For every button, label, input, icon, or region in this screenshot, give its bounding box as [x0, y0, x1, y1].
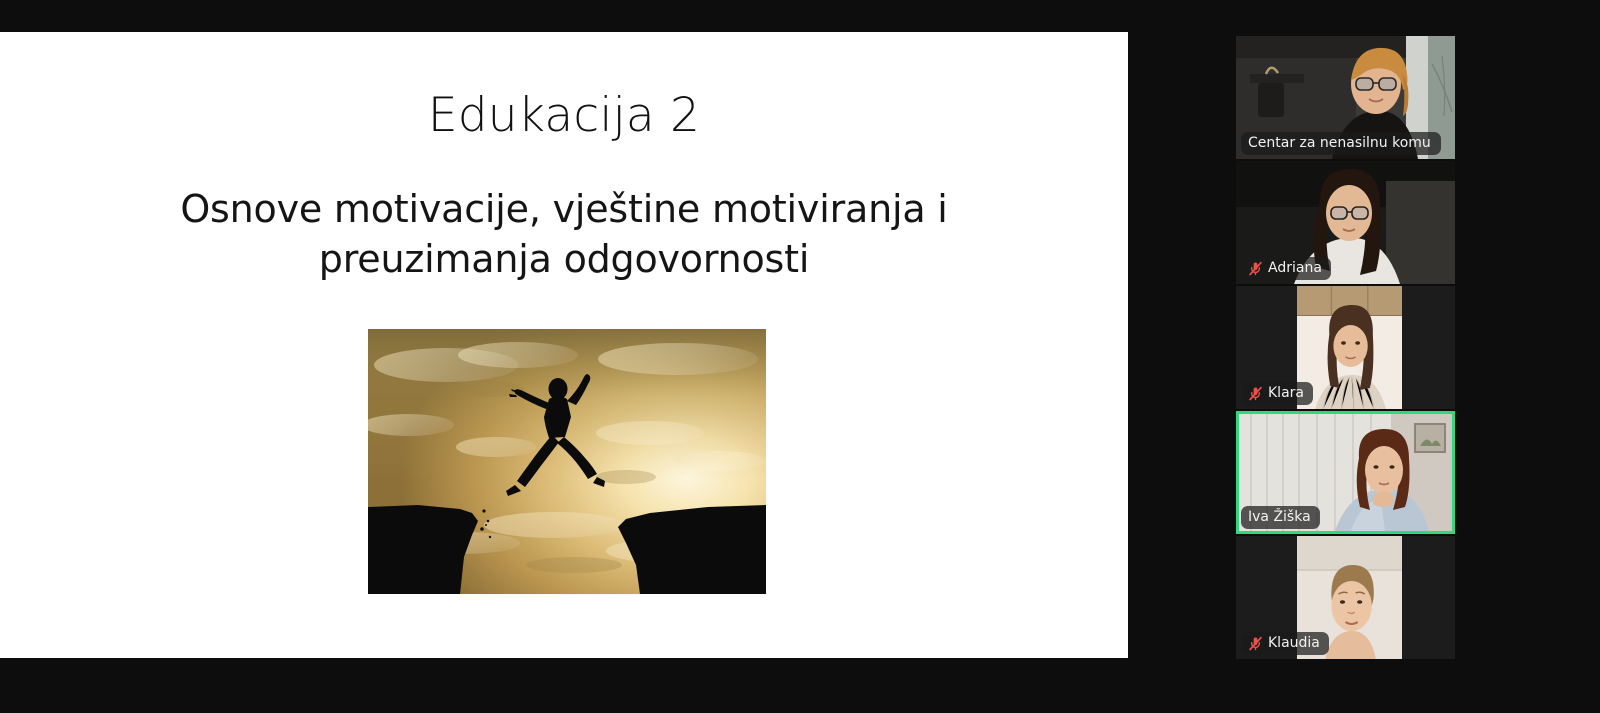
presentation-slide: Edukacija 2 Osnove motivacije, vještine … — [0, 32, 1128, 658]
participant-nameplate: Klaudia — [1241, 632, 1329, 655]
mic-muted-icon — [1248, 261, 1263, 276]
participant-tile[interactable]: Centar za nenasilnu komuni... — [1236, 36, 1455, 159]
participant-video — [1297, 286, 1402, 409]
participant-video-strip: Centar za nenasilnu komuni... — [1236, 36, 1455, 659]
participant-tile[interactable]: Adriana — [1236, 161, 1455, 284]
participant-name: Klara — [1268, 384, 1304, 402]
participant-name: Klaudia — [1268, 634, 1320, 652]
mic-muted-icon — [1248, 636, 1263, 651]
mic-muted-icon — [1248, 386, 1263, 401]
slide-subtitle: Osnove motivacije, vještine motiviranja … — [154, 184, 974, 285]
participant-nameplate: Klara — [1241, 382, 1313, 405]
slide-title: Edukacija 2 — [428, 90, 700, 142]
slide-image-jumping-across-cliff — [368, 329, 766, 594]
participant-name: Iva Žiška — [1248, 508, 1311, 526]
participant-nameplate: Iva Žiška — [1241, 506, 1320, 529]
participant-nameplate: Centar za nenasilnu komuni... — [1241, 132, 1441, 155]
participant-name: Centar za nenasilnu komuni... — [1248, 134, 1432, 152]
zoom-meeting-window: Edukacija 2 Osnove motivacije, vještine … — [0, 0, 1600, 713]
participant-tile[interactable]: Klaudia — [1236, 536, 1455, 659]
participant-tile[interactable]: Klara — [1236, 286, 1455, 409]
participant-tile-active-speaker[interactable]: Iva Žiška — [1236, 411, 1455, 534]
participant-name: Adriana — [1268, 259, 1322, 277]
slide-subtitle-line-1: Osnove motivacije, vještine motiviranja … — [154, 184, 974, 235]
participant-nameplate: Adriana — [1241, 257, 1331, 280]
screen-share-region[interactable]: Edukacija 2 Osnove motivacije, vještine … — [0, 32, 1128, 658]
slide-subtitle-line-2: preuzimanja odgovornosti — [154, 234, 974, 285]
